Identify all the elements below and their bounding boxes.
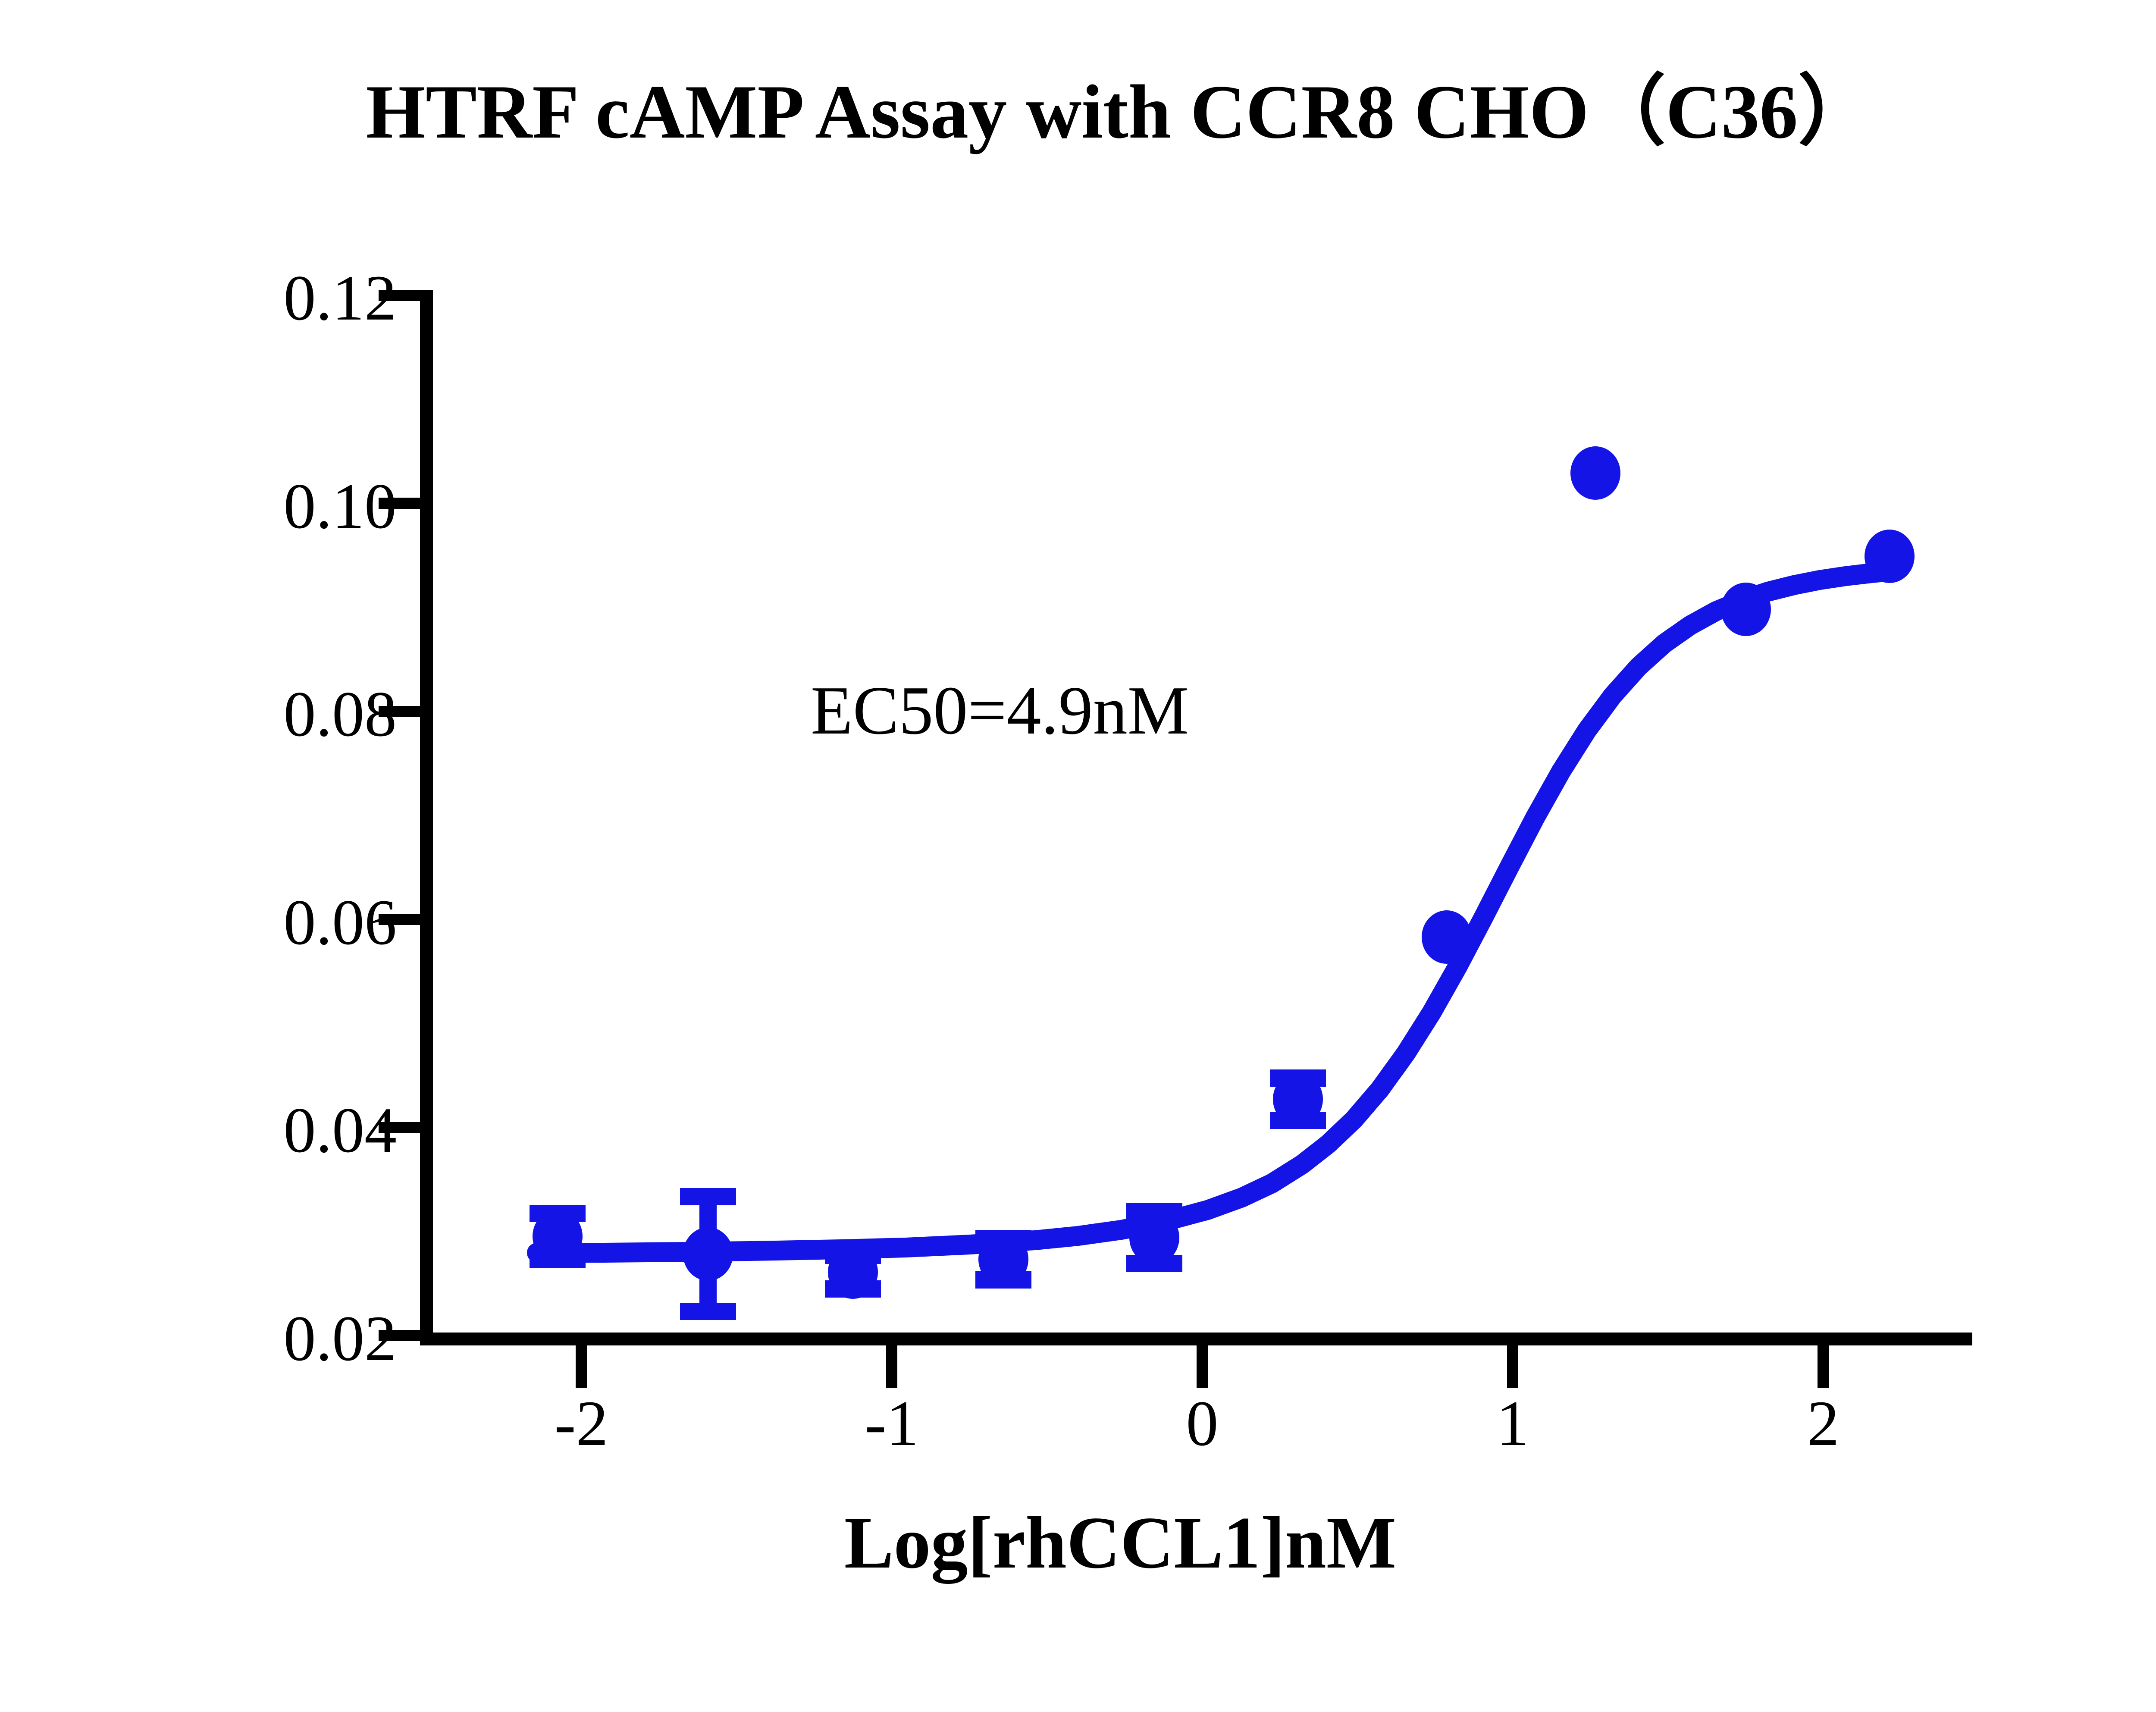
data-point — [1422, 910, 1472, 964]
data-point — [828, 1245, 878, 1299]
error-bars — [530, 1078, 1326, 1311]
data-point — [1129, 1211, 1179, 1264]
y-axis-spine — [420, 290, 433, 1345]
data-point — [1273, 1072, 1323, 1126]
data-point — [683, 1227, 733, 1281]
chart-figure: HTRF cAMP Assay with CCR8 CHO（C36） HTRF … — [0, 0, 2156, 1712]
fit-curve — [537, 571, 1890, 1253]
data-point — [978, 1232, 1028, 1286]
x-tick-marks — [576, 1345, 1829, 1388]
data-point — [1721, 583, 1771, 636]
data-point — [1865, 530, 1915, 583]
x-axis-spine — [420, 1333, 1972, 1345]
data-point — [1570, 446, 1620, 500]
data-point — [533, 1210, 583, 1263]
y-tick-marks — [379, 290, 422, 1341]
plot-area — [0, 0, 2156, 1712]
data-points — [533, 446, 1915, 1299]
